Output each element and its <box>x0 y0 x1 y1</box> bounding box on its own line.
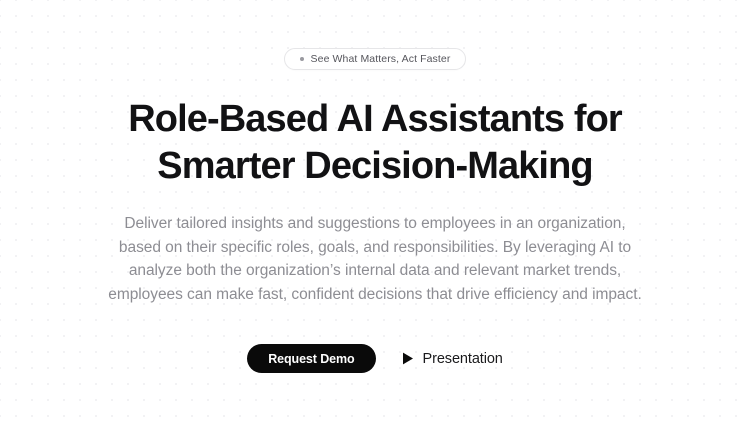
hero-section: See What Matters, Act Faster Role-Based … <box>0 0 750 422</box>
presentation-button-label: Presentation <box>423 351 503 367</box>
eyebrow-badge-label: See What Matters, Act Faster <box>311 54 451 65</box>
dot-icon <box>300 57 304 61</box>
hero-actions: Request Demo Presentation <box>247 344 503 373</box>
play-icon <box>402 352 414 365</box>
hero-description: Deliver tailored insights and suggestion… <box>105 212 645 306</box>
page-title: Role-Based AI Assistants for Smarter Dec… <box>65 96 685 190</box>
request-demo-button[interactable]: Request Demo <box>247 344 375 373</box>
eyebrow-badge: See What Matters, Act Faster <box>284 48 467 70</box>
presentation-button[interactable]: Presentation <box>402 351 503 367</box>
